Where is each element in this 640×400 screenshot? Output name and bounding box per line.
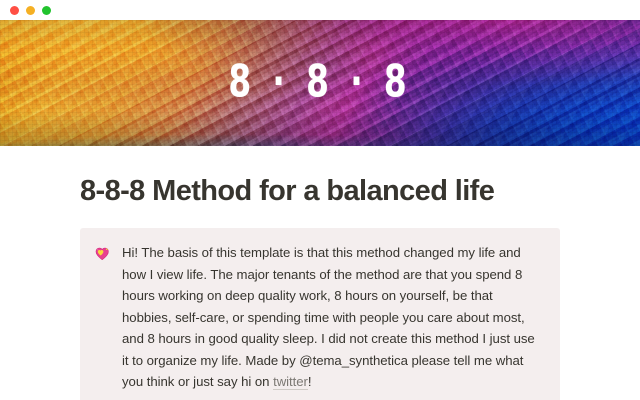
window-close-button[interactable]: [10, 6, 19, 15]
intro-callout-text: Hi! The basis of this template is that t…: [122, 242, 544, 393]
page-title: 8-8-8 Method for a balanced life: [80, 174, 560, 208]
growing-heart-icon: [94, 242, 112, 261]
window-titlebar: [0, 0, 640, 20]
intro-text-part-2: !: [308, 374, 312, 389]
page-content: 8-8-8 Method for a balanced life Hi! The…: [0, 174, 640, 400]
window-minimize-button[interactable]: [26, 6, 35, 15]
page-cover-banner[interactable]: 8 · 8 · 8: [0, 20, 640, 146]
intro-callout: Hi! The basis of this template is that t…: [80, 228, 560, 400]
banner-logo-text: 8 · 8 · 8: [58, 60, 583, 105]
twitter-link[interactable]: twitter: [273, 374, 308, 390]
intro-text-part-1: Hi! The basis of this template is that t…: [122, 245, 535, 389]
window-zoom-button[interactable]: [42, 6, 51, 15]
